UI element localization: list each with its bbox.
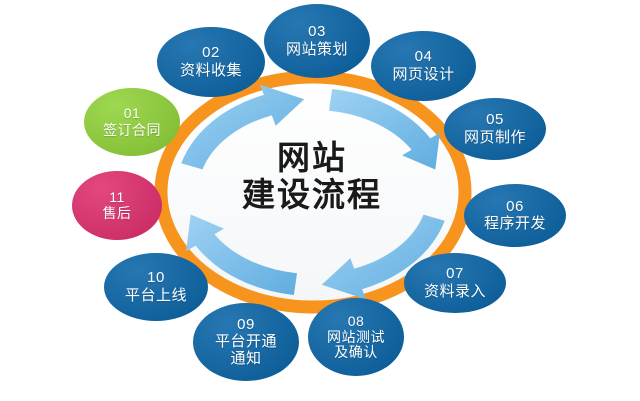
step-bubble-11[interactable]: 11售后 xyxy=(72,171,162,240)
step-label: 资料录入 xyxy=(424,284,486,300)
step-label: 网站测试 及确认 xyxy=(327,330,385,360)
step-number: 09 xyxy=(237,317,255,333)
step-bubble-07[interactable]: 07资料录入 xyxy=(404,253,506,313)
step-label: 签订合同 xyxy=(103,123,161,138)
step-bubble-05[interactable]: 05网页制作 xyxy=(444,98,546,160)
step-number: 01 xyxy=(124,106,141,121)
step-label: 资料收集 xyxy=(180,63,242,79)
step-bubble-06[interactable]: 06程序开发 xyxy=(464,184,566,247)
step-number: 03 xyxy=(308,24,326,40)
step-label: 售后 xyxy=(103,206,132,221)
step-label: 平台开通 通知 xyxy=(215,334,277,366)
step-bubble-10[interactable]: 10平台上线 xyxy=(104,253,208,321)
center-title-line1: 网站 xyxy=(196,140,428,177)
step-number: 02 xyxy=(202,45,220,61)
step-bubble-09[interactable]: 09平台开通 通知 xyxy=(193,303,299,381)
step-label: 程序开发 xyxy=(484,216,546,232)
step-bubble-01[interactable]: 01签订合同 xyxy=(84,88,180,156)
step-bubble-04[interactable]: 04网页设计 xyxy=(371,31,476,101)
step-number: 06 xyxy=(506,199,524,215)
center-title: 网站 建设流程 xyxy=(196,140,428,214)
infographic-canvas: 01签订合同02资料收集03网站策划04网页设计05网页制作06程序开发07资料… xyxy=(0,0,640,401)
step-label: 网页设计 xyxy=(392,67,454,83)
center-title-line2: 建设流程 xyxy=(196,177,428,214)
step-label: 网站策划 xyxy=(286,42,348,58)
step-number: 07 xyxy=(446,266,464,282)
step-number: 08 xyxy=(348,314,365,329)
step-bubble-03[interactable]: 03网站策划 xyxy=(264,4,370,78)
step-number: 10 xyxy=(147,270,165,286)
step-number: 04 xyxy=(415,49,433,65)
step-number: 11 xyxy=(109,190,125,205)
step-bubble-02[interactable]: 02资料收集 xyxy=(157,27,265,97)
step-label: 平台上线 xyxy=(125,288,187,304)
step-bubble-08[interactable]: 08网站测试 及确认 xyxy=(308,298,404,376)
step-number: 05 xyxy=(486,112,504,128)
step-label: 网页制作 xyxy=(464,130,526,146)
